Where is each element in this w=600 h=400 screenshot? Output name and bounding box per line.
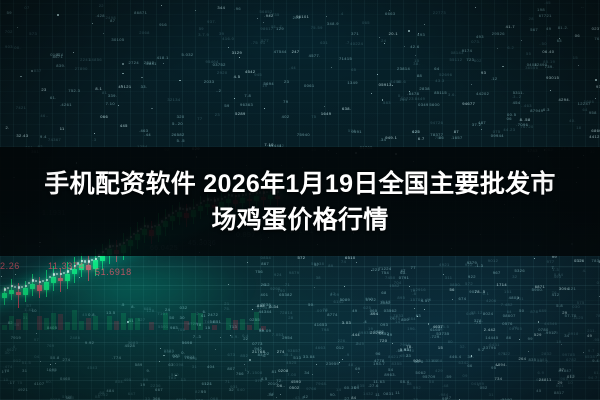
banner-image: 8.5272356852761752.32498602.7096..463.34… xyxy=(0,0,600,400)
vignette-overlay xyxy=(0,0,600,400)
